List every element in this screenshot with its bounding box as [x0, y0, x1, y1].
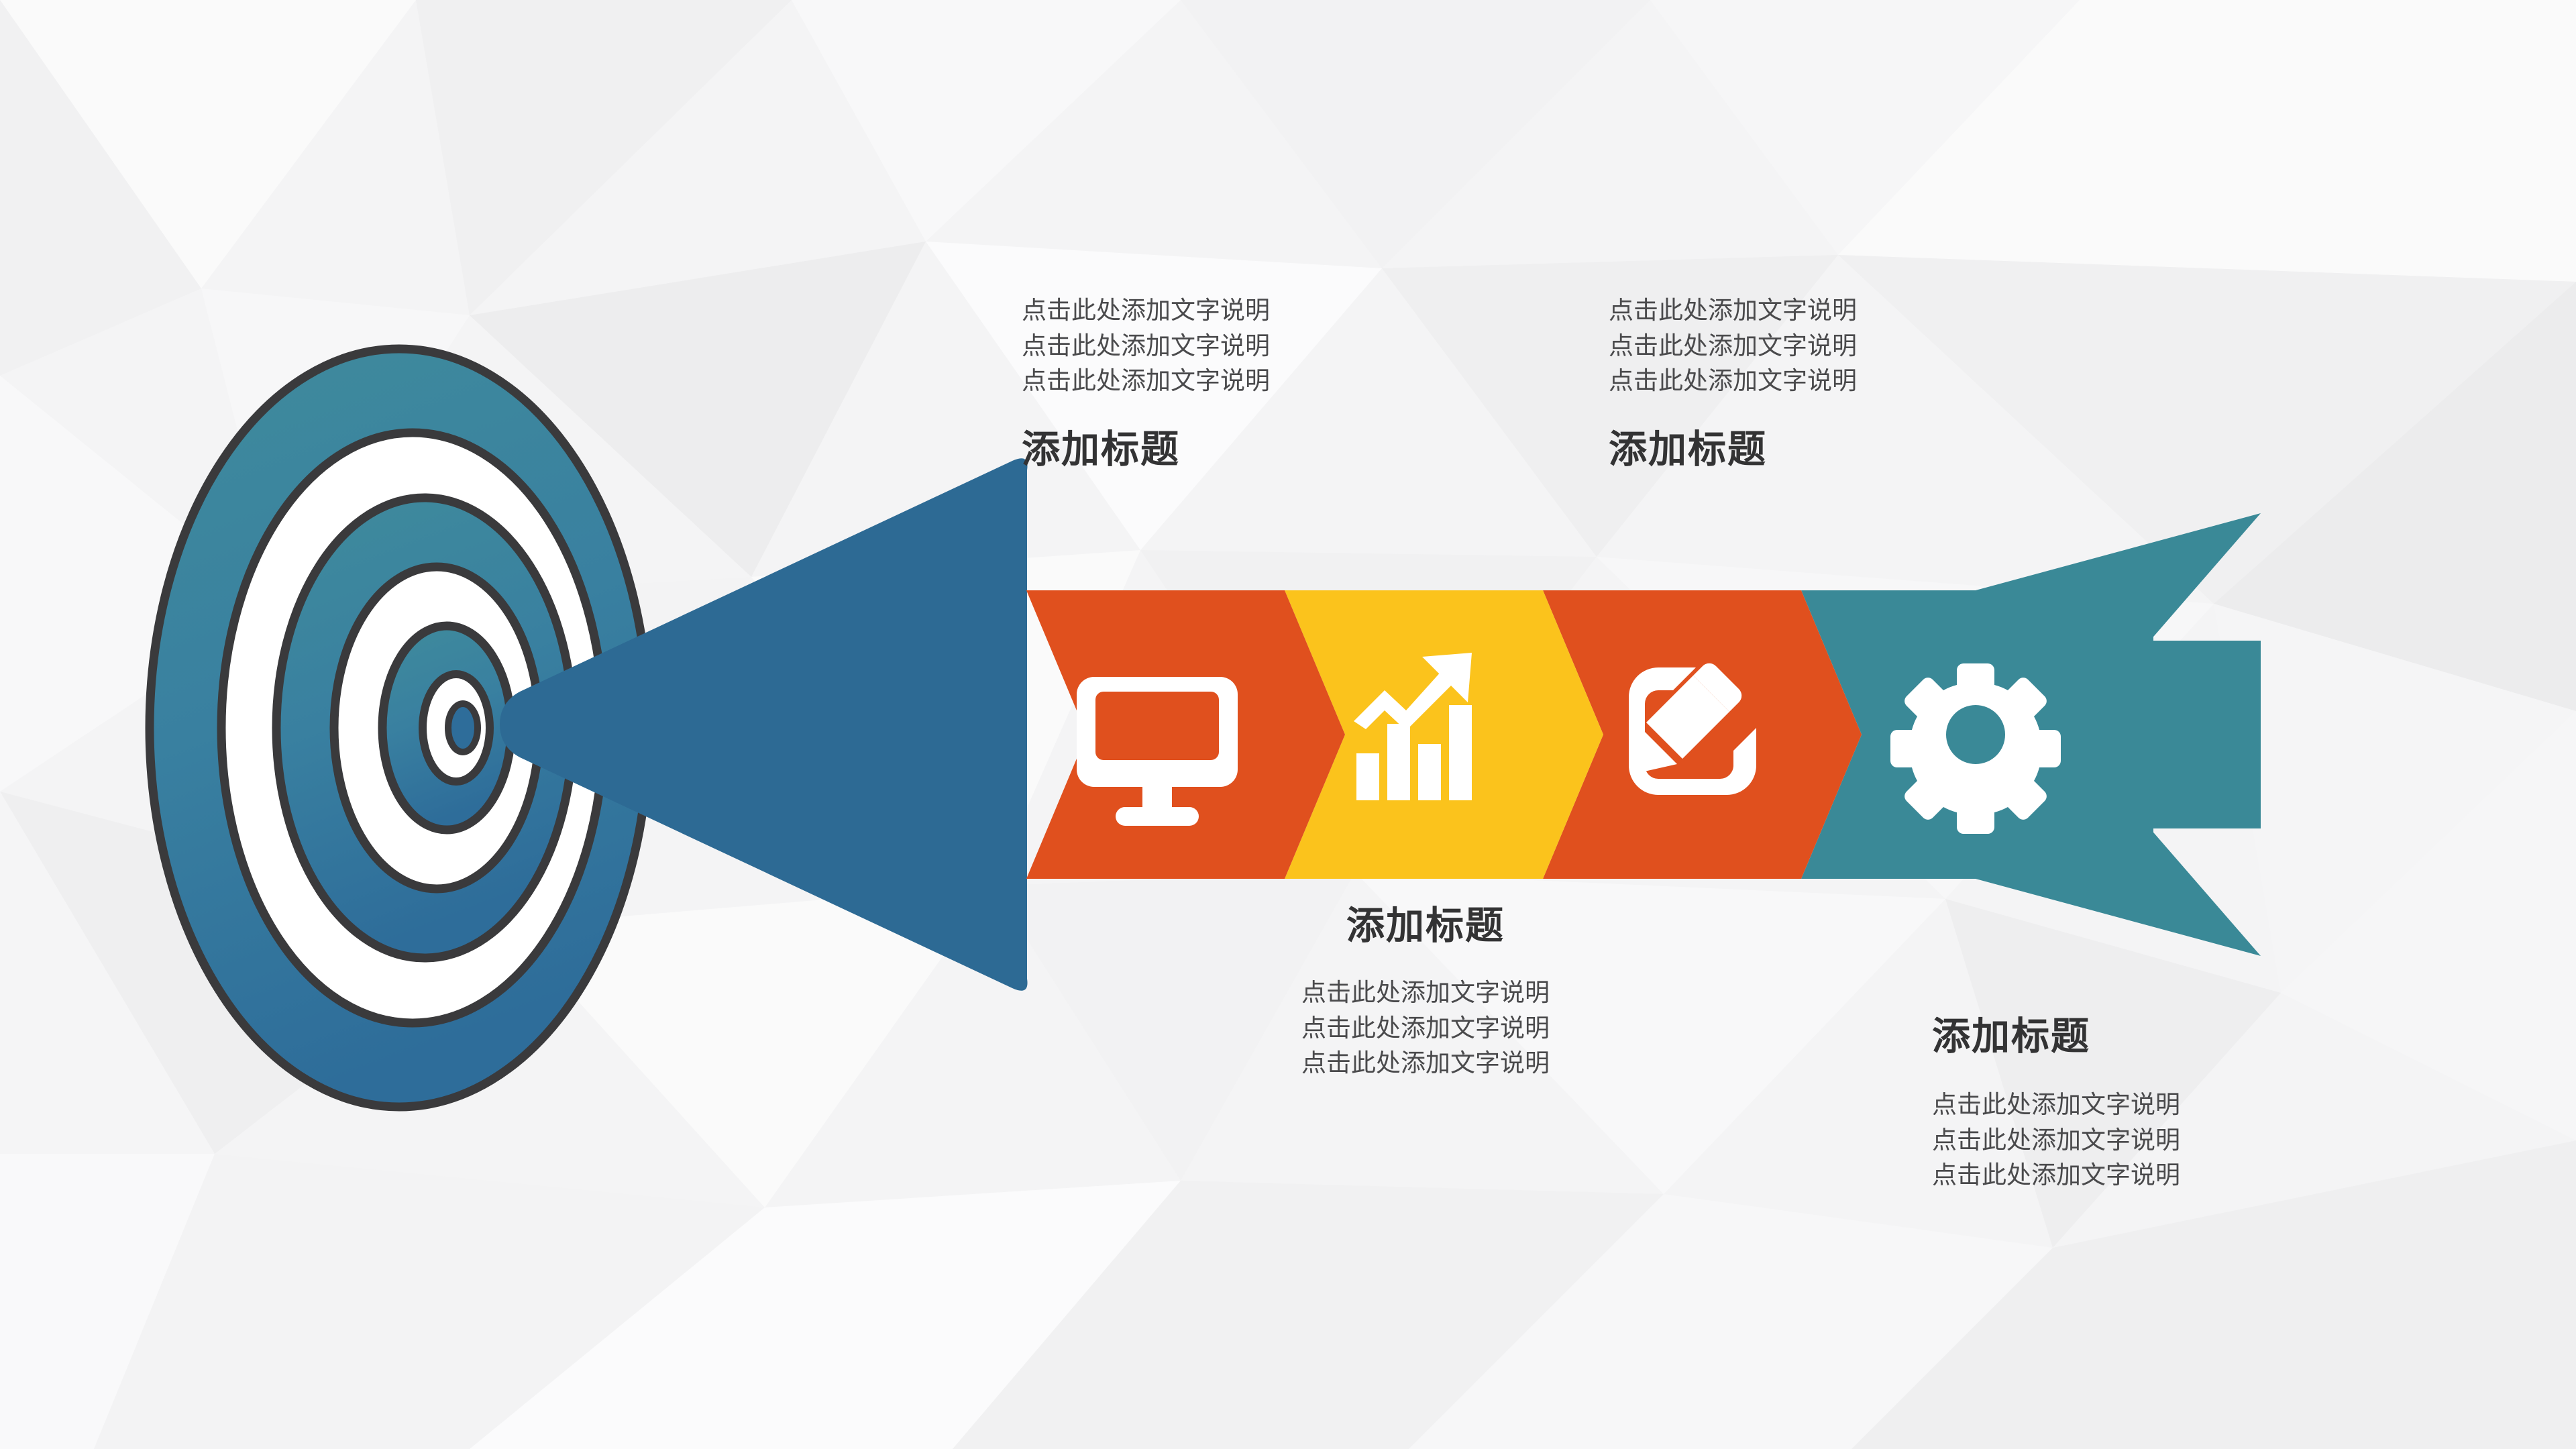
text-block-top-left: 点击此处添加文字说明 点击此处添加文字说明 点击此处添加文字说明 添加标题 — [1022, 293, 1270, 474]
block-heading: 添加标题 — [1932, 1013, 2180, 1061]
description-lines: 点击此处添加文字说明 点击此处添加文字说明 点击此处添加文字说明 — [1932, 1087, 2180, 1193]
description-line: 点击此处添加文字说明 — [1022, 329, 1270, 364]
description-line: 点击此处添加文字说明 — [1609, 329, 1857, 364]
description-line: 点击此处添加文字说明 — [1301, 1046, 1550, 1081]
description-lines: 点击此处添加文字说明 点击此处添加文字说明 点击此处添加文字说明 — [1022, 293, 1270, 399]
description-line: 点击此处添加文字说明 — [1932, 1123, 2180, 1159]
arrow-head — [500, 453, 1030, 996]
description-line: 点击此处添加文字说明 — [1932, 1158, 2180, 1193]
block-heading: 添加标题 — [1609, 426, 1857, 474]
description-lines: 点击此处添加文字说明 点击此处添加文字说明 点击此处添加文字说明 — [1301, 975, 1550, 1081]
block-heading: 添加标题 — [1022, 426, 1270, 474]
bar-segment-1 — [1026, 590, 1345, 879]
text-block-bottom-right: 添加标题 点击此处添加文字说明 点击此处添加文字说明 点击此处添加文字说明 — [1932, 1013, 2180, 1193]
slide-canvas: 点击此处添加文字说明 点击此处添加文字说明 点击此处添加文字说明 添加标题 点击… — [0, 0, 2576, 1449]
description-line: 点击此处添加文字说明 — [1932, 1087, 2180, 1123]
description-line: 点击此处添加文字说明 — [1301, 1011, 1550, 1046]
description-line: 点击此处添加文字说明 — [1022, 293, 1270, 329]
description-line: 点击此处添加文字说明 — [1022, 364, 1270, 399]
description-line: 点击此处添加文字说明 — [1609, 364, 1857, 399]
process-bar — [1000, 503, 2274, 966]
description-line: 点击此处添加文字说明 — [1609, 293, 1857, 329]
description-line: 点击此处添加文字说明 — [1301, 975, 1550, 1011]
text-block-top-right: 点击此处添加文字说明 点击此处添加文字说明 点击此处添加文字说明 添加标题 — [1609, 293, 1857, 474]
block-heading: 添加标题 — [1301, 902, 1550, 950]
text-block-bottom-center: 添加标题 点击此处添加文字说明 点击此处添加文字说明 点击此处添加文字说明 — [1301, 902, 1550, 1081]
description-lines: 点击此处添加文字说明 点击此处添加文字说明 点击此处添加文字说明 — [1609, 293, 1857, 399]
